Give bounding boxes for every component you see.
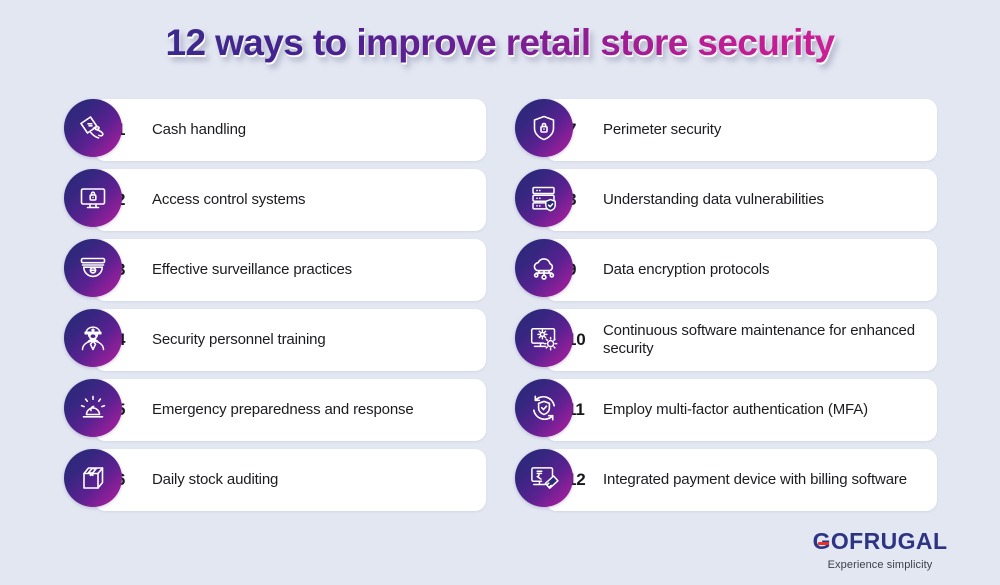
list-item[interactable]: 9 Data encryption protocols [515, 239, 936, 301]
item-label: Continuous software maintenance for enha… [603, 322, 925, 359]
left-column: 1 Cash handling 2 Access control systems [64, 99, 485, 511]
item-card[interactable]: 1 Cash handling [94, 99, 486, 161]
item-card[interactable]: 5 Emergency preparedness and response [94, 379, 486, 441]
item-label: Emergency preparedness and response [152, 401, 414, 419]
page-title: 12 ways to improve retail store security [165, 22, 834, 64]
dome-security-camera-icon [64, 239, 122, 297]
refresh-shield-check-icon [515, 379, 573, 437]
item-card[interactable]: 8 Understanding data vulnerabilities [545, 169, 937, 231]
logo-text: GOFRUGAL [813, 528, 948, 554]
database-shield-icon [515, 169, 573, 227]
gofrugal-logo: GOFRUGAL Experience simplicity [790, 530, 970, 571]
list-item[interactable]: 12 Integrated payment device with billin… [515, 449, 936, 511]
monitor-gears-icon [515, 309, 573, 367]
item-card[interactable]: 6 Daily stock auditing [94, 449, 486, 511]
item-card[interactable]: 3 Effective surveillance practices [94, 239, 486, 301]
security-guard-icon [64, 309, 122, 367]
monitor-lock-icon [64, 169, 122, 227]
item-label: Cash handling [152, 121, 246, 139]
item-label: Security personnel training [152, 331, 326, 349]
item-card[interactable]: 4 Security personnel training [94, 309, 486, 371]
list-item[interactable]: 4 Security personnel training [64, 309, 485, 371]
logo-wordmark: GOFRUGAL [813, 530, 948, 553]
item-card[interactable]: 9 Data encryption protocols [545, 239, 937, 301]
alarm-siren-icon [64, 379, 122, 437]
list-item[interactable]: 1 Cash handling [64, 99, 485, 161]
stock-box-icon [64, 449, 122, 507]
list-item[interactable]: 2 Access control systems [64, 169, 485, 231]
logo-g-accent-bar [818, 542, 829, 546]
right-column: 7 Perimeter security 8 Understanding dat… [515, 99, 936, 511]
item-card[interactable]: 11 Employ multi-factor authentication (M… [545, 379, 937, 441]
cloud-network-icon [515, 239, 573, 297]
shield-lock-icon [515, 99, 573, 157]
list-item[interactable]: 6 Daily stock auditing [64, 449, 485, 511]
item-label: Data encryption protocols [603, 261, 769, 279]
payment-terminal-card-icon [515, 449, 573, 507]
hand-with-card-icon [64, 99, 122, 157]
item-card[interactable]: 7 Perimeter security [545, 99, 937, 161]
list-item[interactable]: 7 Perimeter security [515, 99, 936, 161]
item-card[interactable]: 2 Access control systems [94, 169, 486, 231]
logo-tagline: Experience simplicity [790, 559, 970, 571]
list-item[interactable]: 8 Understanding data vulnerabilities [515, 169, 936, 231]
list-item[interactable]: 11 Employ multi-factor authentication (M… [515, 379, 936, 441]
list-item[interactable]: 10 Continuous software maintenance for e… [515, 309, 936, 371]
item-label: Daily stock auditing [152, 471, 278, 489]
list-item[interactable]: 5 Emergency preparedness and response [64, 379, 485, 441]
list-item[interactable]: 3 Effective surveillance practices [64, 239, 485, 301]
item-label: Effective surveillance practices [152, 261, 352, 279]
item-label: Integrated payment device with billing s… [603, 471, 907, 489]
item-label: Access control systems [152, 191, 305, 209]
page-title-wrapper: 12 ways to improve retail store security [0, 22, 1000, 64]
item-label: Understanding data vulnerabilities [603, 191, 824, 209]
item-label: Employ multi-factor authentication (MFA) [603, 401, 868, 419]
item-label: Perimeter security [603, 121, 721, 139]
item-card[interactable]: 10 Continuous software maintenance for e… [545, 309, 937, 371]
items-grid: 1 Cash handling 2 Access control systems [0, 99, 1000, 511]
item-card[interactable]: 12 Integrated payment device with billin… [545, 449, 937, 511]
